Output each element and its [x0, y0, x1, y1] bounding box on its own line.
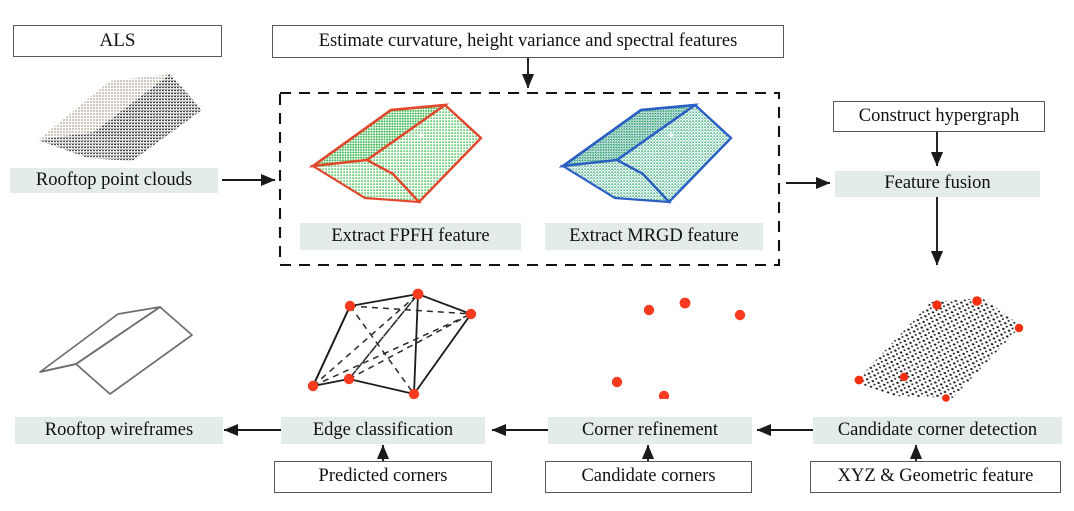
box-rooftop-wireframes-label: Rooftop wireframes — [45, 421, 193, 440]
box-extract-mrgd[interactable]: Extract MRGD feature — [545, 223, 763, 250]
box-candidate-corner-detection-label: Candidate corner detection — [838, 421, 1037, 440]
box-candidate-corners[interactable]: Candidate corners — [545, 461, 752, 493]
box-construct-hypergraph[interactable]: Construct hypergraph — [833, 101, 1045, 132]
box-estimate-features[interactable]: Estimate curvature, height variance and … — [272, 25, 784, 58]
als-point-cloud-image — [24, 62, 224, 164]
box-xyz-geometric-feature[interactable]: XYZ & Geometric feature — [810, 461, 1061, 493]
rooftop-wireframe-image — [24, 292, 224, 402]
box-rooftop-point-clouds[interactable]: Rooftop point clouds — [10, 168, 218, 193]
box-predicted-corners[interactable]: Predicted corners — [274, 461, 492, 493]
fpfh-point-cloud-image — [295, 102, 495, 210]
box-predicted-corners-label: Predicted corners — [319, 467, 448, 486]
candidate-corner-cloud-image — [833, 284, 1053, 402]
diagram-canvas: ALS Estimate curvature, height variance … — [0, 0, 1074, 511]
box-edge-classification-label: Edge classification — [313, 421, 453, 440]
box-rooftop-point-clouds-label: Rooftop point clouds — [36, 171, 192, 190]
box-extract-fpfh[interactable]: Extract FPFH feature — [300, 223, 521, 250]
box-rooftop-wireframes[interactable]: Rooftop wireframes — [15, 417, 223, 444]
box-als[interactable]: ALS — [13, 25, 222, 57]
box-candidate-corners-label: Candidate corners — [581, 467, 715, 486]
box-extract-mrgd-label: Extract MRGD feature — [569, 227, 739, 246]
box-candidate-corner-detection[interactable]: Candidate corner detection — [813, 417, 1062, 444]
hypergraph-image — [286, 284, 501, 399]
box-construct-hypergraph-label: Construct hypergraph — [859, 107, 1019, 126]
box-feature-fusion[interactable]: Feature fusion — [835, 171, 1040, 197]
box-corner-refinement-label: Corner refinement — [582, 421, 718, 440]
box-feature-fusion-label: Feature fusion — [884, 174, 990, 193]
refined-corners-image — [600, 284, 795, 399]
box-als-label: ALS — [100, 31, 136, 51]
mrgd-point-cloud-image — [545, 102, 745, 210]
box-estimate-features-label: Estimate curvature, height variance and … — [319, 32, 738, 51]
box-xyz-geometric-feature-label: XYZ & Geometric feature — [838, 467, 1034, 486]
box-corner-refinement[interactable]: Corner refinement — [548, 417, 752, 444]
box-edge-classification[interactable]: Edge classification — [281, 417, 485, 444]
box-extract-fpfh-label: Extract FPFH feature — [331, 227, 489, 246]
